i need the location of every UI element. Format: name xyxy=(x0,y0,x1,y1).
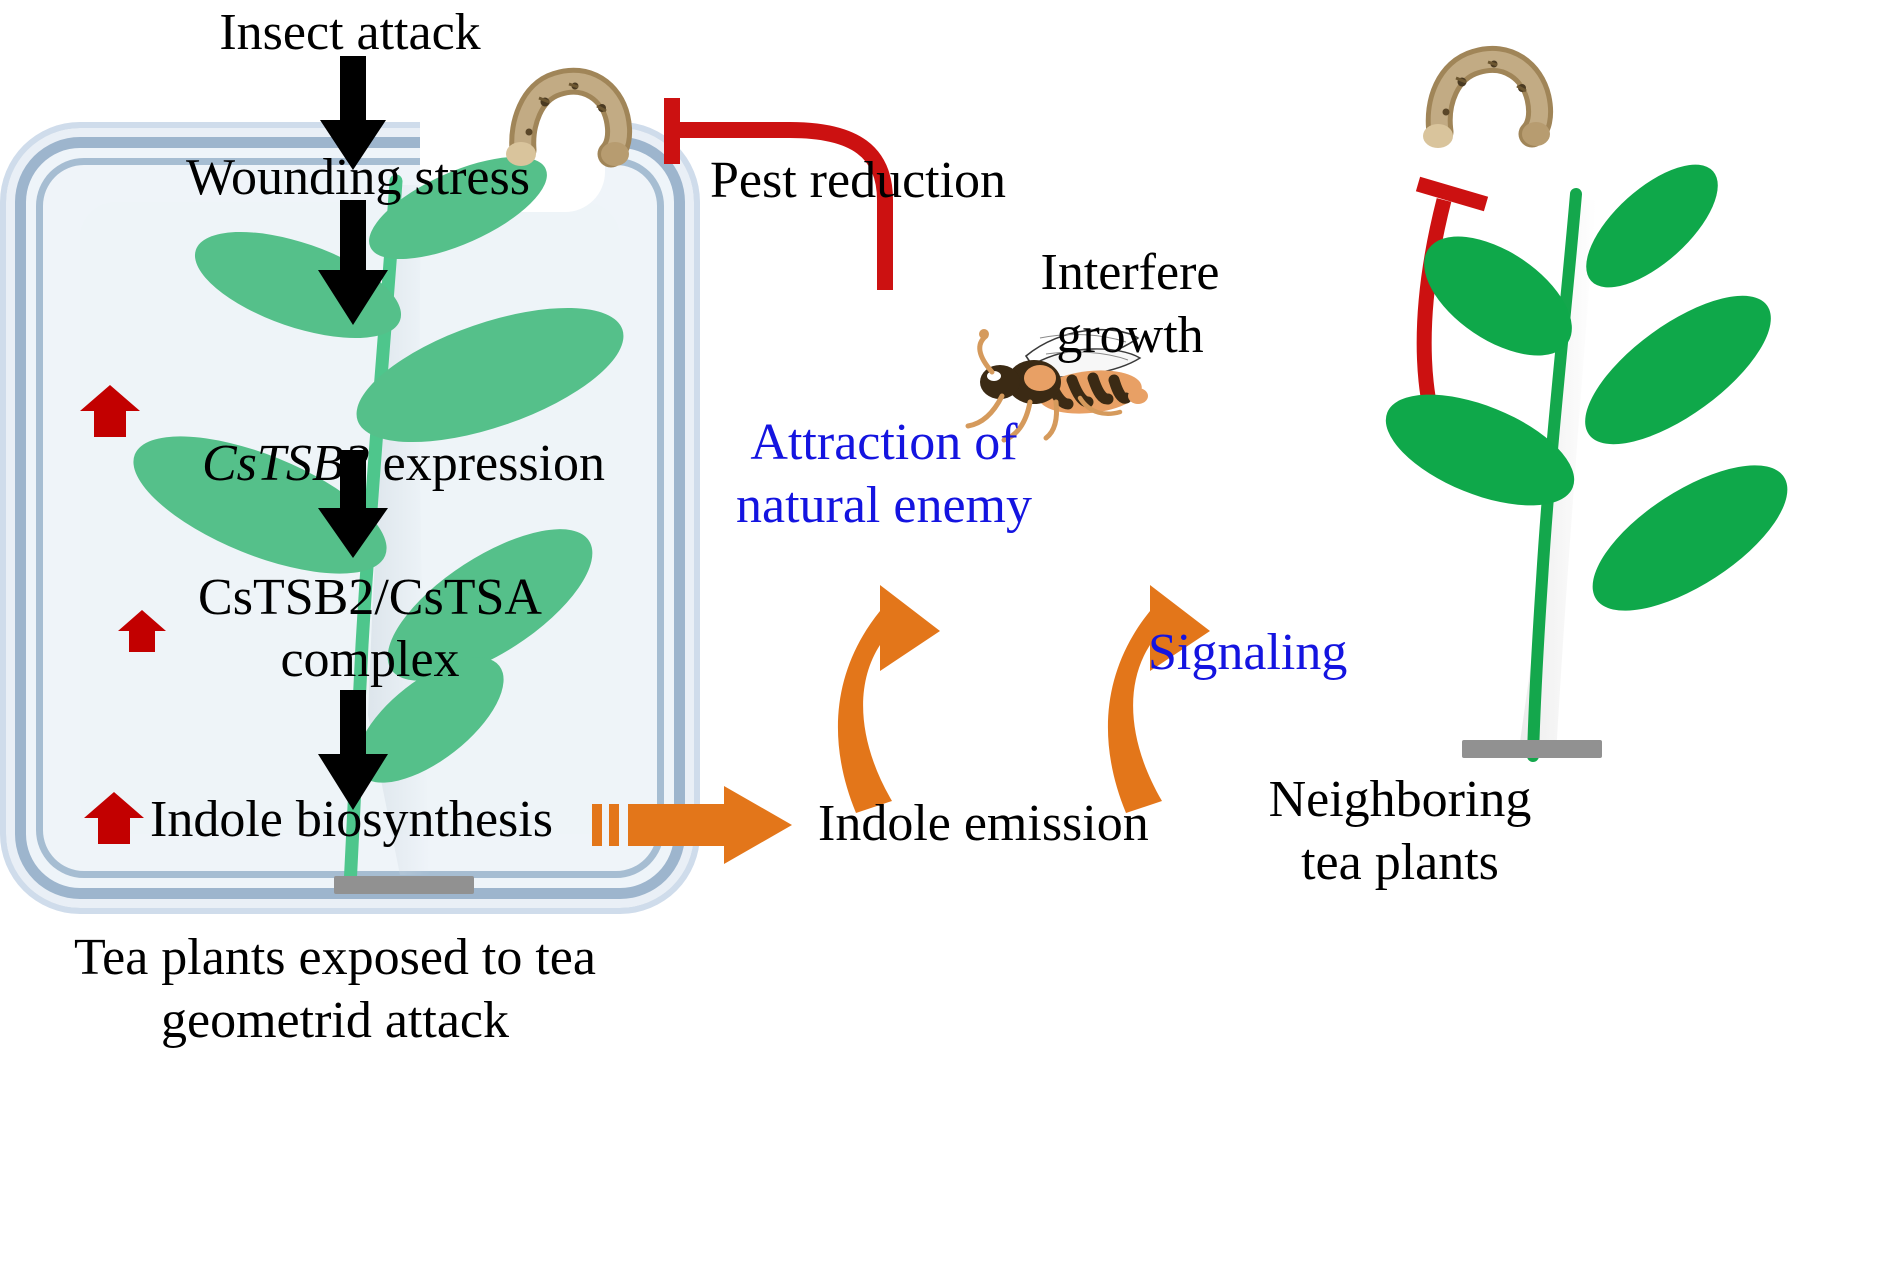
indole-biosynthesis-label: Indole biosynthesis xyxy=(150,792,553,848)
up-arrow-expression-icon xyxy=(78,383,142,439)
attraction-label-line2: natural enemy xyxy=(736,478,1032,534)
interfere-label-line2: growth xyxy=(1056,308,1203,364)
up-arrow-indole-icon xyxy=(82,790,146,846)
neighboring-label-line2: tea plants xyxy=(1301,835,1499,891)
indole-emission-label: Indole emission xyxy=(818,796,1149,852)
cstsb2-expression-label: CsTSB2 expression xyxy=(150,380,605,548)
cell-caption-line1: Tea plants exposed to tea xyxy=(74,930,596,986)
caterpillar-icon-right xyxy=(1418,40,1568,150)
cstsb2-gene-name: CsTSB2 xyxy=(202,435,370,492)
signaling-label: Signaling xyxy=(1148,625,1347,681)
interfere-label-line1: Interfere xyxy=(1041,245,1220,301)
complex-label-line1: CsTSB2/CsTSA xyxy=(198,570,542,626)
neighboring-label-line1: Neighboring xyxy=(1269,772,1532,828)
pest-reduction-label: Pest reduction xyxy=(710,153,1006,209)
indole-emission-arrow xyxy=(592,780,812,880)
complex-label-line2: complex xyxy=(280,632,459,688)
soil-bar-right xyxy=(1462,740,1602,758)
cstsb2-expression-suffix: expression xyxy=(370,435,605,492)
diagram-canvas: Insect attack Wounding stress CsTSB2 exp… xyxy=(0,0,1890,1266)
orange-arrow-to-attraction xyxy=(810,545,960,815)
attraction-label-line1: Attraction of xyxy=(750,415,1017,471)
up-arrow-complex-icon xyxy=(116,608,168,654)
cell-caption-line2: geometrid attack xyxy=(161,993,509,1049)
down-arrow-2 xyxy=(318,200,388,325)
insect-attack-label: Insect attack xyxy=(219,5,480,61)
neighboring-tea-plant xyxy=(1390,160,1890,760)
wounding-stress-label: Wounding stress xyxy=(186,150,530,206)
